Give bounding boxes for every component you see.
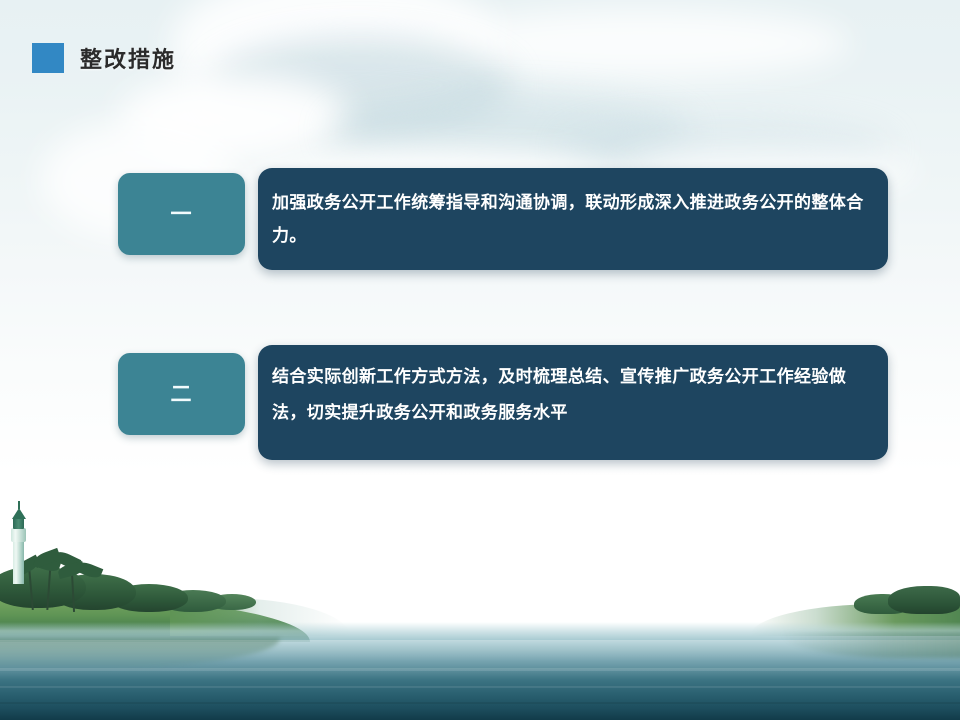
- measure-badge-label-2: 二: [171, 384, 193, 405]
- lighthouse-spire: [18, 501, 20, 509]
- measure-textbox-2[interactable]: 结合实际创新工作方式方法，及时梳理总结、宣传推广政务公开工作经验做法，切实提升政…: [258, 345, 888, 460]
- measure-badge-label-1: 一: [171, 204, 193, 225]
- blue-square-marker-icon: [32, 43, 64, 73]
- measure-textbox-1[interactable]: 加强政务公开工作统筹指导和沟通协调，联动形成深入推进政务公开的整体合力。: [258, 168, 888, 270]
- lighthouse-tower: [13, 540, 24, 584]
- measure-badge-1[interactable]: 一: [118, 173, 245, 255]
- sky-background: [0, 0, 960, 640]
- measure-text-2: 结合实际创新工作方式方法，及时梳理总结、宣传推广政务公开工作经验做法，切实提升政…: [272, 359, 866, 431]
- lighthouse-roof: [12, 508, 26, 519]
- lighthouse-gallery: [11, 528, 26, 542]
- measure-text-1: 加强政务公开工作统筹指导和沟通协调，联动形成深入推进政务公开的整体合力。: [272, 186, 864, 252]
- slide-header: 整改措施: [32, 42, 176, 74]
- page-title: 整改措施: [80, 42, 176, 74]
- foliage-cluster: [888, 586, 960, 614]
- measure-badge-2[interactable]: 二: [118, 353, 245, 435]
- lighthouse-lamp: [13, 518, 24, 529]
- slide-canvas: 整改措施 加强政务公开工作统筹指导和沟通协调，联动形成深入推进政务公开的整体合力…: [0, 0, 960, 720]
